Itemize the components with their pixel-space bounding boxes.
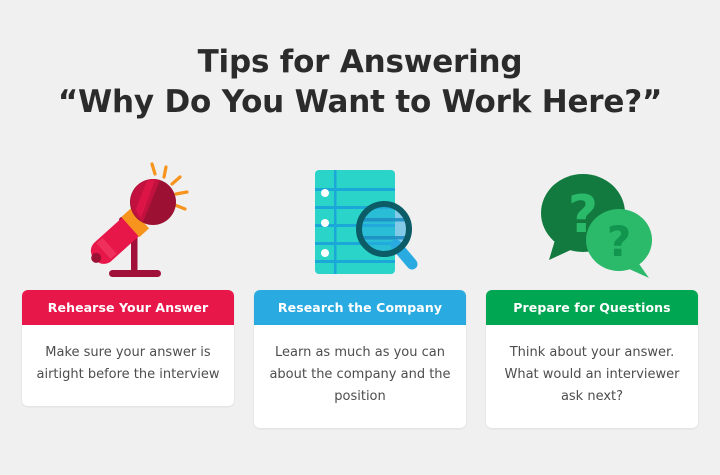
- tip-card-rehearse: Rehearse Your Answer Make sure your answ…: [22, 290, 234, 406]
- page-title: Tips for Answering “Why Do You Want to W…: [0, 42, 720, 122]
- tip-card-body-research: Learn as much as you can about the compa…: [254, 325, 466, 428]
- speech-bubbles-question-icon: ? ?: [486, 158, 698, 290]
- tip-card-body-rehearse: Make sure your answer is airtight before…: [22, 325, 234, 406]
- tip-card-body-prepare: Think about your answer. What would an i…: [486, 325, 698, 428]
- infographic-page: Tips for Answering “Why Do You Want to W…: [0, 0, 720, 475]
- tip-card-header-research: Research the Company: [254, 290, 466, 325]
- tip-card-research: Research the Company Learn as much as yo…: [254, 290, 466, 428]
- tip-column-research: Research the Company Learn as much as yo…: [254, 158, 466, 458]
- tip-card-header-rehearse: Rehearse Your Answer: [22, 290, 234, 325]
- svg-text:?: ?: [607, 217, 631, 266]
- microphone-icon: [22, 158, 234, 290]
- page-title-line-1: Tips for Answering: [0, 42, 720, 82]
- tip-column-prepare: ? ? Prepare for Questions Think about yo…: [486, 158, 698, 458]
- tip-card-prepare: Prepare for Questions Think about your a…: [486, 290, 698, 428]
- tip-column-rehearse: Rehearse Your Answer Make sure your answ…: [22, 158, 234, 458]
- tips-columns: Rehearse Your Answer Make sure your answ…: [22, 158, 698, 458]
- page-title-line-2: “Why Do You Want to Work Here?”: [0, 82, 720, 122]
- notebook-magnifier-icon: [254, 158, 466, 290]
- tip-card-header-prepare: Prepare for Questions: [486, 290, 698, 325]
